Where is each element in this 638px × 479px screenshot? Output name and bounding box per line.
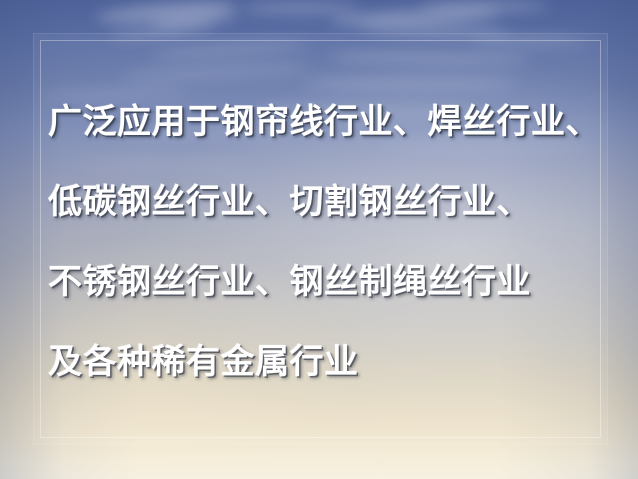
- presentation-slide: 广泛应用于钢帘线行业、焊丝行业、 低碳钢丝行业、切割钢丝行业、 不锈钢丝行业、钢…: [0, 0, 638, 479]
- body-line: 广泛应用于钢帘线行业、焊丝行业、: [48, 82, 608, 162]
- slide-body-text: 广泛应用于钢帘线行业、焊丝行业、 低碳钢丝行业、切割钢丝行业、 不锈钢丝行业、钢…: [48, 82, 608, 402]
- body-line: 及各种稀有金属行业: [48, 322, 608, 402]
- body-line: 低碳钢丝行业、切割钢丝行业、: [48, 162, 608, 242]
- body-line: 不锈钢丝行业、钢丝制绳丝行业: [48, 242, 608, 322]
